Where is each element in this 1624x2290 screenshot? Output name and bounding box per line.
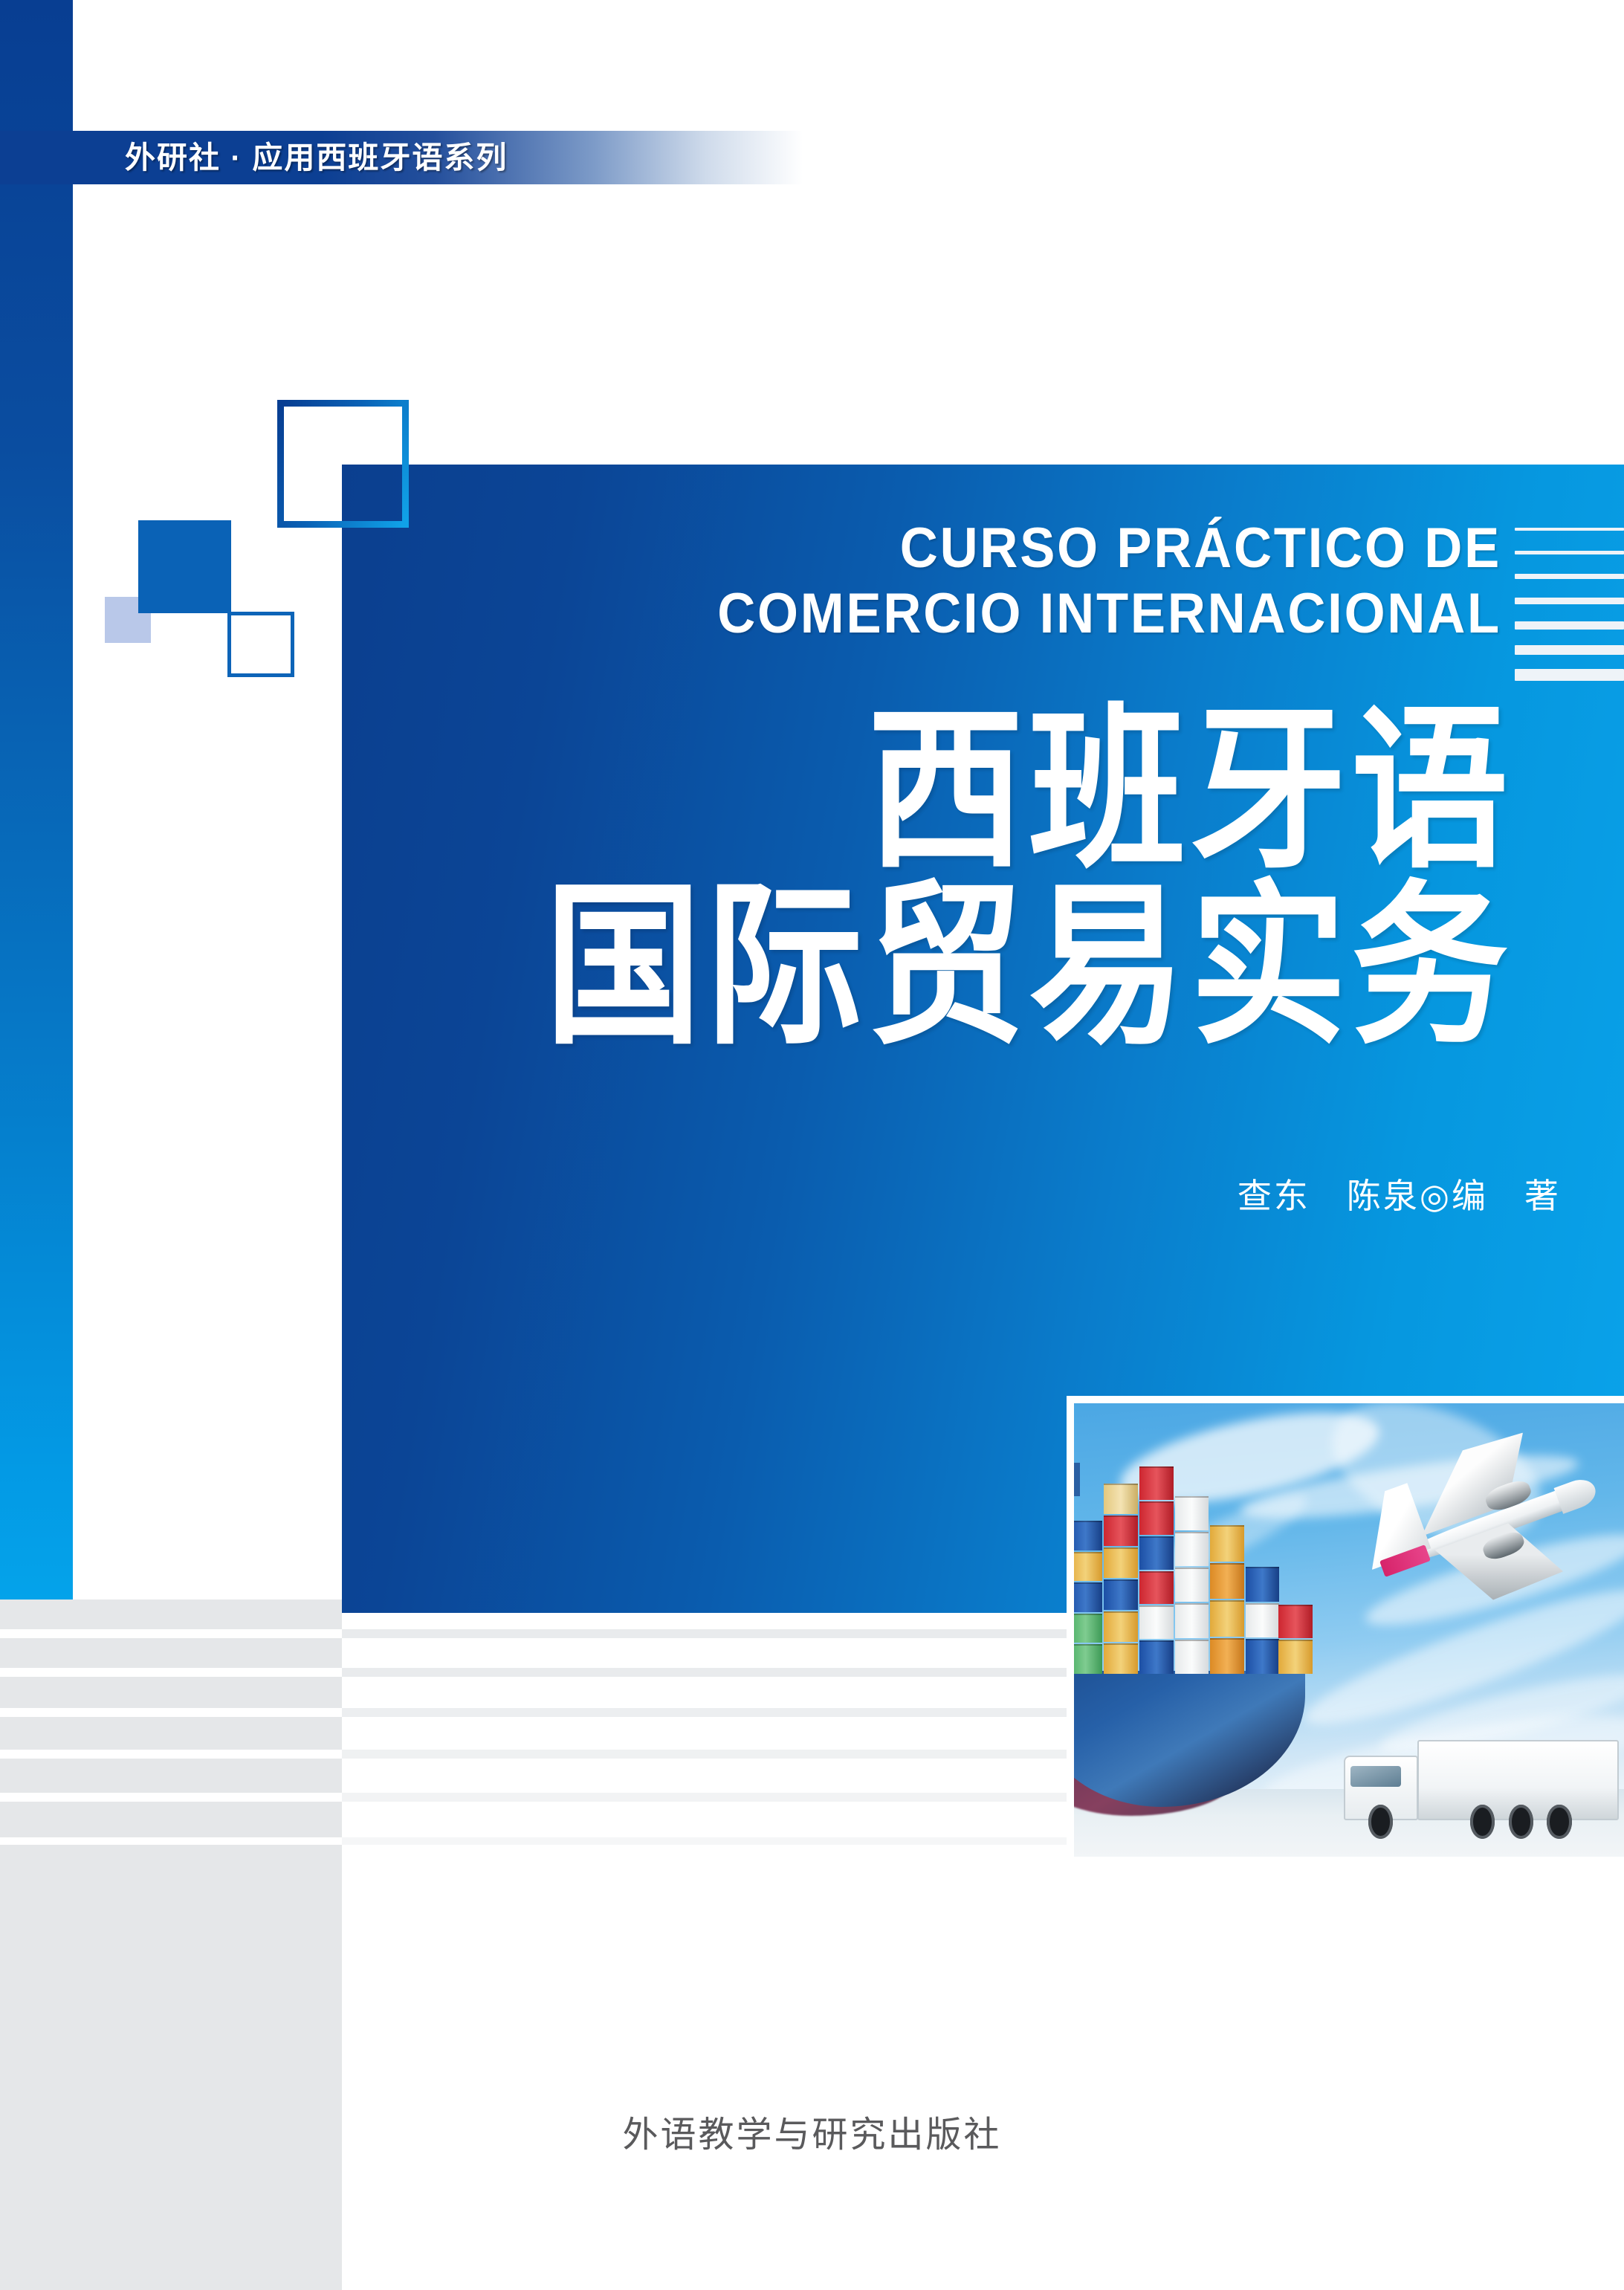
chinese-title-line-2: 国际贸易实务 (416, 876, 1513, 1057)
logistics-photo (1074, 1403, 1624, 1857)
stripe-segment-left (0, 1837, 342, 1845)
authors-line: 查东 陈泉◎编 著 (892, 1169, 1607, 1218)
spanish-title-line-2: COMERCIO INTERNACIONAL (450, 586, 1501, 642)
series-banner: 外研社 · 应用西班牙语系列 (0, 131, 803, 184)
spanish-title-line-1: CURSO PRÁCTICO DE (450, 520, 1501, 577)
stripe-segment-left (0, 1717, 342, 1750)
stripe-segment-left (0, 1708, 342, 1717)
container-column (1139, 1466, 1174, 1675)
container-column (1175, 1496, 1209, 1675)
container-column (1210, 1525, 1244, 1675)
stripe-segment-left (0, 1668, 342, 1677)
cargo-container-stack (1074, 1466, 1321, 1675)
decorative-square-outline-large (277, 400, 409, 528)
truck-windshield (1350, 1766, 1400, 1787)
stripe-segment-left (0, 1802, 342, 1837)
container-column (1278, 1605, 1313, 1675)
ship-mast (1074, 1463, 1080, 1496)
container-column (1246, 1567, 1280, 1675)
truck-wheel (1470, 1805, 1495, 1839)
stripe-segment-left (0, 1793, 342, 1802)
stripe-segment-left (0, 1677, 342, 1708)
truck-wheel (1509, 1805, 1533, 1839)
stripe-segment-left (0, 1750, 342, 1759)
truck-wheel (1547, 1805, 1571, 1839)
stripe-segment-left (0, 1638, 342, 1668)
chinese-title-line-1: 西班牙语 (416, 700, 1513, 881)
publisher-name: 外语教学与研究出版社 (0, 2105, 1624, 2157)
container-column (1104, 1484, 1138, 1675)
truck-wheel (1368, 1805, 1393, 1839)
spanish-title: CURSO PRÁCTICO DE COMERCIO INTERNACIONAL (450, 520, 1501, 642)
stripe-segment-left (0, 1600, 342, 1629)
decorative-square-solid-blue (138, 520, 231, 613)
container-column (1074, 1521, 1102, 1675)
decorative-line-stack (1515, 528, 1624, 676)
cover-photo-frame (1067, 1396, 1624, 1864)
decorative-square-outline-small (227, 612, 294, 677)
stripe-segment-left (0, 1759, 342, 1793)
stripe-segment-left (0, 1629, 342, 1638)
chinese-title: 西班牙语 国际贸易实务 (416, 710, 1513, 1048)
cargo-truck-icon (1344, 1738, 1619, 1838)
book-cover: 外研社 · 应用西班牙语系列 CURSO PRÁCTICO DE COMERCI… (0, 0, 1624, 2290)
left-accent-bar (0, 0, 73, 1600)
series-banner-label: 外研社 · 应用西班牙语系列 (125, 143, 508, 173)
